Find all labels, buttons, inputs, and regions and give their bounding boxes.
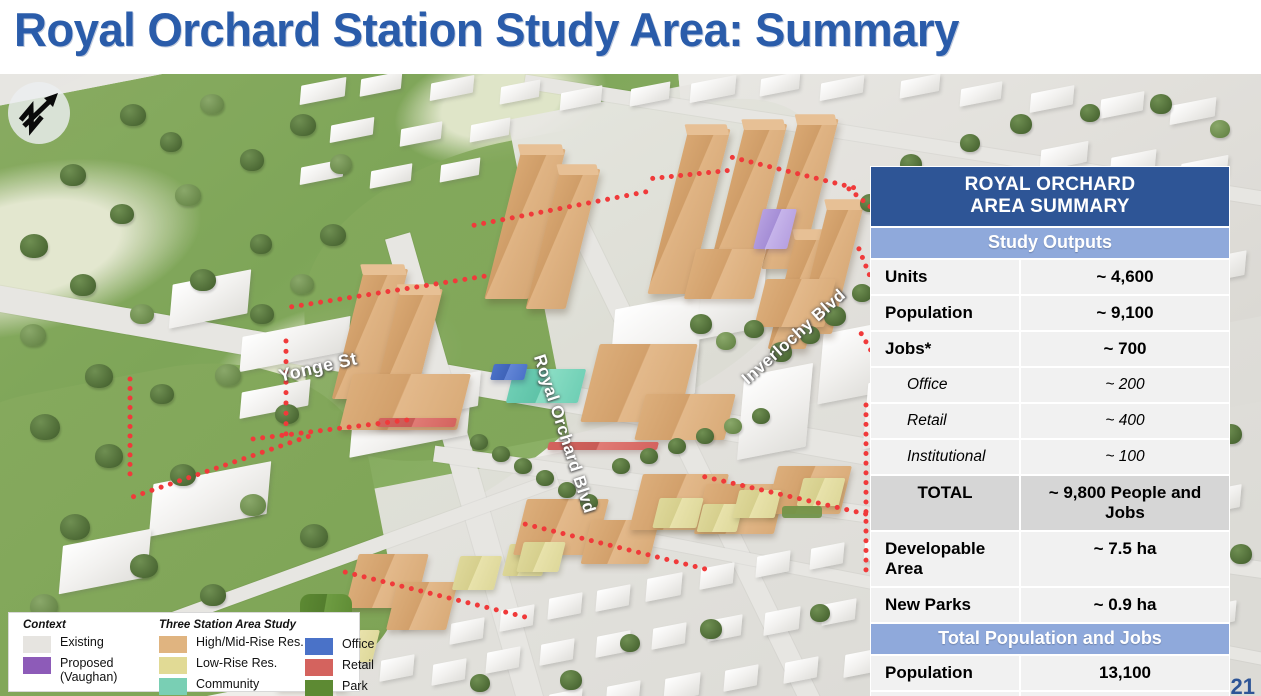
table-row-jobs: Jobs* ~ 700 bbox=[871, 330, 1229, 366]
legend-swatch-park bbox=[305, 680, 333, 696]
row-label-jobs: Jobs* bbox=[871, 332, 1019, 366]
office-building bbox=[490, 364, 528, 380]
legend-swatch-proposed bbox=[23, 657, 51, 674]
legend-item-highmid-rise: High/Mid-Rise Res. bbox=[159, 635, 289, 653]
north-arrow-icon bbox=[8, 82, 70, 144]
table-row-subtotal: TOTAL ~ 9,800 People and Jobs bbox=[871, 474, 1229, 530]
legend-swatch-community bbox=[159, 678, 187, 695]
row-label-units: Units bbox=[871, 260, 1019, 294]
legend-label-proposed: Proposed (Vaughan) bbox=[60, 656, 117, 684]
row-value-subtotal: ~ 9,800 People and Jobs bbox=[1019, 476, 1229, 530]
legend-item-community: Community bbox=[159, 677, 289, 695]
legend-swatch-highmid-rise bbox=[159, 636, 187, 653]
podium-north-1 bbox=[684, 249, 766, 299]
page-number: 21 bbox=[1231, 674, 1255, 696]
row-label-total-jobs: Jobs bbox=[871, 692, 1019, 696]
summary-table-title-line2: AREA SUMMARY bbox=[875, 196, 1225, 218]
legend-item-existing: Existing bbox=[23, 635, 153, 653]
legend-label-community: Community bbox=[196, 677, 259, 691]
aerial-map-render: Yonge St Royal Orchard Blvd Inverlochy B… bbox=[0, 74, 1261, 696]
legend-swatch-existing bbox=[23, 636, 51, 653]
row-label-total-population: Population bbox=[871, 656, 1019, 690]
row-label-population: Population bbox=[871, 296, 1019, 330]
row-label-office: Office bbox=[871, 368, 1019, 402]
legend-label-park: Park bbox=[342, 679, 368, 693]
row-value-total-population: 13,100 bbox=[1019, 656, 1229, 690]
table-row-total-jobs: Jobs 1,100 bbox=[871, 690, 1229, 696]
legend-item-office: Office bbox=[305, 637, 395, 655]
table-row-institutional: Institutional ~ 100 bbox=[871, 438, 1229, 474]
legend-item-low-rise: Low-Rise Res. bbox=[159, 656, 289, 674]
legend-label-office: Office bbox=[342, 637, 374, 651]
row-value-office: ~ 200 bbox=[1019, 368, 1229, 402]
row-value-new-parks: ~ 0.9 ha bbox=[1019, 588, 1229, 622]
slide: Royal Orchard Station Study Area: Summar… bbox=[0, 0, 1261, 696]
table-row-population: Population ~ 9,100 bbox=[871, 294, 1229, 330]
legend-label-low-rise: Low-Rise Res. bbox=[196, 656, 277, 670]
legend-study-column-right: Office Retail Park bbox=[305, 637, 395, 696]
row-label-new-parks: New Parks bbox=[871, 588, 1019, 622]
legend-label-existing: Existing bbox=[60, 635, 104, 649]
table-row-total-population: Population 13,100 bbox=[871, 654, 1229, 690]
legend-study-heading: Three Station Area Study bbox=[159, 619, 289, 631]
legend-study-column-left: Three Station Area Study High/Mid-Rise R… bbox=[159, 619, 289, 696]
row-value-institutional: ~ 100 bbox=[1019, 440, 1229, 474]
summary-section-header-study-outputs: Study Outputs bbox=[871, 226, 1229, 258]
row-label-subtotal: TOTAL bbox=[871, 476, 1019, 530]
row-value-retail: ~ 400 bbox=[1019, 404, 1229, 438]
legend-swatch-retail bbox=[305, 659, 333, 676]
legend-swatch-low-rise bbox=[159, 657, 187, 674]
row-value-total-jobs: 1,100 bbox=[1019, 692, 1229, 696]
table-row-retail: Retail ~ 400 bbox=[871, 402, 1229, 438]
legend-label-retail: Retail bbox=[342, 658, 374, 672]
summary-table-title: ROYAL ORCHARD AREA SUMMARY bbox=[871, 167, 1229, 226]
row-value-units: ~ 4,600 bbox=[1019, 260, 1229, 294]
royal-orchard-area-summary-table: ROYAL ORCHARD AREA SUMMARY Study Outputs… bbox=[870, 166, 1230, 696]
row-label-retail: Retail bbox=[871, 404, 1019, 438]
row-value-developable-area: ~ 7.5 ha bbox=[1019, 532, 1229, 586]
legend-context-column: Context Existing Proposed (Vaughan) bbox=[23, 619, 153, 687]
legend-item-retail: Retail bbox=[305, 658, 395, 676]
legend-label-highmid-rise: High/Mid-Rise Res. bbox=[196, 635, 304, 649]
summary-section-header-total-population-jobs: Total Population and Jobs bbox=[871, 622, 1229, 654]
row-value-population: ~ 9,100 bbox=[1019, 296, 1229, 330]
row-label-institutional: Institutional bbox=[871, 440, 1019, 474]
legend-swatch-office bbox=[305, 638, 333, 655]
page-title: Royal Orchard Station Study Area: Summar… bbox=[14, 2, 959, 57]
table-row-office: Office ~ 200 bbox=[871, 366, 1229, 402]
row-value-jobs: ~ 700 bbox=[1019, 332, 1229, 366]
row-label-developable-area: Developable Area bbox=[871, 532, 1019, 586]
map-legend: Context Existing Proposed (Vaughan) Thre… bbox=[8, 612, 360, 692]
legend-item-park: Park bbox=[305, 679, 395, 696]
summary-table-title-line1: ROYAL ORCHARD bbox=[875, 174, 1225, 196]
legend-context-heading: Context bbox=[23, 619, 153, 631]
title-bar: Royal Orchard Station Study Area: Summar… bbox=[0, 0, 1261, 74]
table-row-units: Units ~ 4,600 bbox=[871, 258, 1229, 294]
legend-item-proposed: Proposed (Vaughan) bbox=[23, 656, 153, 684]
table-row-new-parks: New Parks ~ 0.9 ha bbox=[871, 586, 1229, 622]
table-row-developable-area: Developable Area ~ 7.5 ha bbox=[871, 530, 1229, 586]
podium-central-small bbox=[634, 394, 735, 440]
